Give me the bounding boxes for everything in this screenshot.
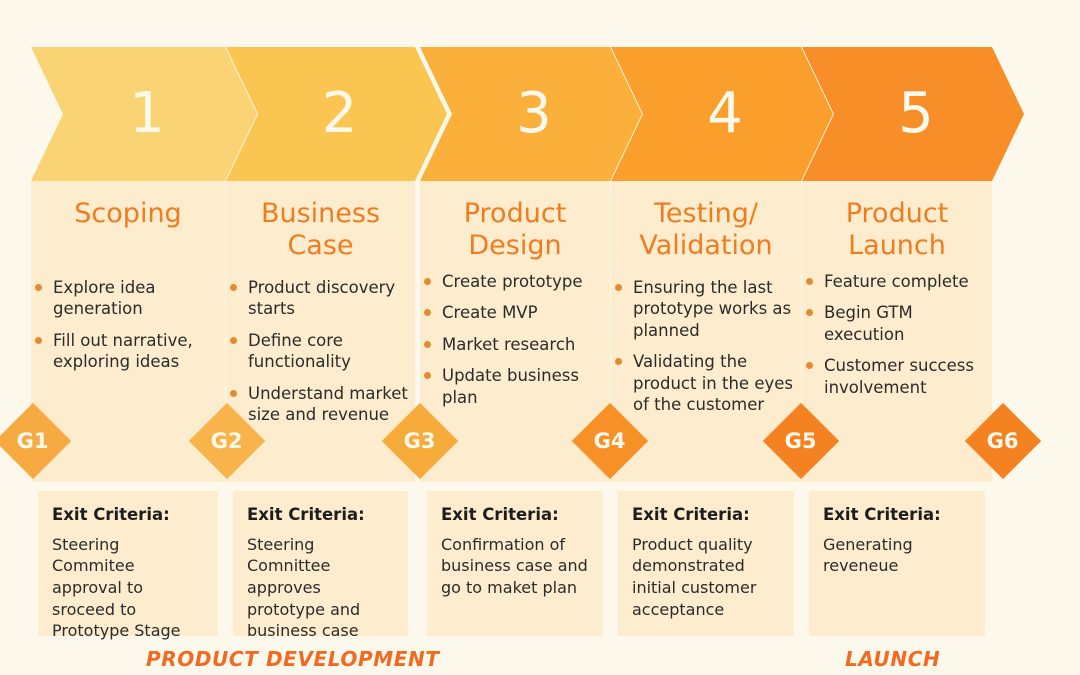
exit-criteria-card-3: Exit Criteria:Confirmation of business c… (427, 491, 603, 636)
footer-label-launch: LAUNCH (845, 647, 940, 671)
exit-criteria-text: Confirmation of business case and go to … (441, 534, 589, 599)
stage-title: Product Design (420, 198, 610, 261)
bullet-dot-icon (806, 362, 813, 369)
bullet-text: Explore idea generation (53, 278, 155, 318)
bullet-dot-icon (615, 358, 622, 365)
stage-chevron-band: 12345 (0, 47, 1080, 181)
stage-chevron-1[interactable]: 1 (31, 47, 257, 181)
stage-bullet-list: Ensuring the last prototype works as pla… (611, 277, 801, 426)
bullet-text: Customer success involvement (824, 356, 974, 396)
process-diagram: 12345 ScopingExplore idea generationFill… (0, 0, 1080, 675)
stage-title: Business Case (226, 198, 415, 261)
exit-criteria-card-1: Exit Criteria:Steering Commitee approval… (38, 491, 218, 636)
stage-number: 2 (316, 86, 358, 142)
bullet-dot-icon (806, 309, 813, 316)
bullet-dot-icon (424, 372, 431, 379)
bullet-dot-icon (806, 278, 813, 285)
exit-criteria-label: Exit Criteria: (632, 505, 780, 525)
gate-label: G4 (594, 430, 626, 451)
bullet-text: Begin GTM execution (824, 303, 913, 343)
stage-title: Scoping (31, 198, 225, 230)
exit-criteria-label: Exit Criteria: (441, 505, 589, 525)
bullet-text: Create prototype (442, 272, 582, 291)
list-item: Fill out narrative, exploring ideas (31, 330, 225, 373)
bullet-dot-icon (230, 390, 237, 397)
stage-number: 3 (510, 86, 552, 142)
bullet-text: Create MVP (442, 303, 538, 322)
gate-label: G5 (785, 430, 817, 451)
exit-criteria-card-4: Exit Criteria:Product quality demonstrat… (618, 491, 794, 636)
list-item: Create MVP (420, 302, 610, 323)
stage-chevron-5[interactable]: 5 (802, 47, 1024, 181)
stage-bullet-list: Product discovery startsDefine core func… (226, 277, 415, 436)
stage-title: Testing/ Validation (611, 198, 801, 261)
footer-label-product-development: PRODUCT DEVELOPMENT (146, 647, 440, 671)
bullet-dot-icon (230, 337, 237, 344)
stage-number: 4 (701, 86, 743, 142)
bullet-dot-icon (230, 284, 237, 291)
exit-criteria-label: Exit Criteria: (823, 505, 971, 525)
list-item: Ensuring the last prototype works as pla… (611, 277, 801, 341)
gate-label: G3 (404, 430, 436, 451)
exit-criteria-text: Steering Comnittee approves prototype an… (247, 534, 394, 642)
list-item: Explore idea generation (31, 277, 225, 320)
list-item: Create prototype (420, 271, 610, 292)
list-item: Validating the product in the eyes of th… (611, 351, 801, 415)
exit-criteria-label: Exit Criteria: (247, 505, 394, 525)
gate-label: G2 (211, 430, 243, 451)
bullet-text: Validating the product in the eyes of th… (633, 352, 793, 414)
stage-number: 5 (892, 86, 934, 142)
stage-chevron-4[interactable]: 4 (611, 47, 833, 181)
bullet-text: Feature complete (824, 272, 969, 291)
list-item: Product discovery starts (226, 277, 415, 320)
exit-criteria-text: Generating reveneue (823, 534, 971, 577)
bullet-dot-icon (424, 309, 431, 316)
list-item: Customer success involvement (802, 355, 992, 398)
stage-chevron-2[interactable]: 2 (226, 47, 447, 181)
list-item: Define core functionality (226, 330, 415, 373)
bullet-dot-icon (615, 284, 622, 291)
bullet-dot-icon (35, 337, 42, 344)
stage-number: 1 (123, 86, 165, 142)
stage-title: Product Launch (802, 198, 992, 261)
bullet-text: Update business plan (442, 366, 579, 406)
exit-criteria-text: Product quality demonstrated initial cus… (632, 534, 780, 620)
bullet-text: Product discovery starts (248, 278, 395, 318)
bullet-dot-icon (35, 284, 42, 291)
bullet-text: Market research (442, 335, 575, 354)
list-item: Begin GTM execution (802, 302, 992, 345)
stage-chevron-3[interactable]: 3 (420, 47, 642, 181)
stage-bullet-list: Create prototypeCreate MVPMarket researc… (420, 271, 610, 418)
bullet-text: Understand market size and revenue (248, 384, 408, 424)
stage-bullet-list: Explore idea generationFill out narrativ… (31, 277, 225, 383)
bullet-text: Fill out narrative, exploring ideas (53, 331, 193, 371)
list-item: Market research (420, 334, 610, 355)
list-item: Understand market size and revenue (226, 383, 415, 426)
list-item: Update business plan (420, 365, 610, 408)
exit-criteria-label: Exit Criteria: (52, 505, 204, 525)
bullet-text: Define core functionality (248, 331, 351, 371)
bullet-dot-icon (424, 341, 431, 348)
gate-label: G1 (17, 430, 49, 451)
exit-criteria-card-2: Exit Criteria:Steering Comnittee approve… (233, 491, 408, 636)
exit-criteria-text: Steering Commitee approval to sroceed to… (52, 534, 204, 642)
exit-criteria-card-5: Exit Criteria:Generating reveneue (809, 491, 985, 636)
gate-label: G6 (987, 430, 1019, 451)
bullet-dot-icon (424, 278, 431, 285)
stage-bullet-list: Feature completeBegin GTM executionCusto… (802, 271, 992, 408)
bullet-text: Ensuring the last prototype works as pla… (633, 278, 791, 340)
list-item: Feature complete (802, 271, 992, 292)
